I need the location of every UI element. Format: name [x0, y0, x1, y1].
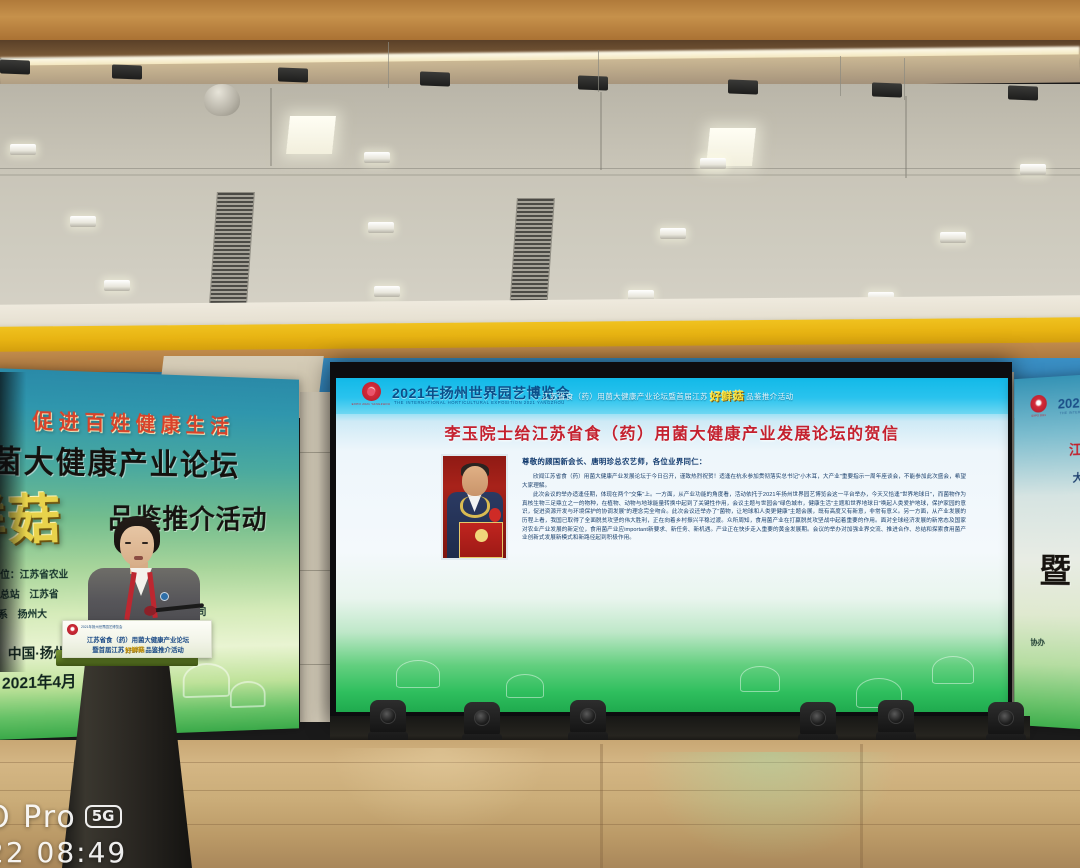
- slide-body-text: 尊敬的顾国新会长、唐明珍总农艺师，各位业界同仁： 欣闻江苏省食（药）用菌大健康产…: [522, 456, 966, 544]
- slide-header-brand: 好鲜菇: [710, 387, 745, 404]
- ceiling-panel-seam: [905, 96, 907, 178]
- slide-header-right-after: 品鉴推介活动: [746, 392, 793, 401]
- banner-right-year: 2021: [1058, 394, 1080, 411]
- mushroom-graphic: [506, 674, 544, 698]
- banner-right-big-char: 暨: [1039, 544, 1070, 592]
- podium-sign-brand: 好鲜菇: [125, 645, 145, 655]
- podium-sign-top-line: 2021年扬州世界园艺博览会: [81, 624, 122, 629]
- banner-left-slogan: 展 促进百姓健康生活: [0, 403, 290, 442]
- ceiling-hanging-wire: [388, 42, 389, 88]
- podium-sign-line-2-after: 品鉴推介活动: [145, 647, 183, 654]
- ceiling-downlight: [70, 216, 96, 227]
- floor-plank-seam: [600, 744, 603, 868]
- slide-header-right-text: 江苏省食（药）用菌大健康产业论坛暨首届江苏好鲜菇品鉴推介活动: [542, 389, 794, 405]
- speaker-box-icon: [112, 64, 142, 79]
- speaker-box-icon: [728, 79, 758, 94]
- banner-right-red-line: 江: [1069, 440, 1080, 460]
- ceiling-downlight: [368, 222, 394, 233]
- watermark-model-text: O Pro: [0, 800, 77, 835]
- speaker-box-icon: [278, 67, 308, 82]
- podium-sign-line-2-before: 暨首届江苏: [92, 647, 124, 654]
- ceiling-downlight: [374, 286, 400, 297]
- ceiling-downlight: [10, 144, 36, 155]
- ceiling-downlight: [940, 232, 966, 243]
- conference-hall-photo: 展 促进百姓健康生活 用菌大健康产业论坛 鲜菇 品鉴推介活动 办单位：江苏省农业…: [0, 0, 1080, 868]
- podium-sign: 2021年扬州世界园艺博览会 江苏省食（药）用菌大健康产业论坛 暨首届江苏好鲜菇…: [62, 620, 212, 658]
- expo-logo-icon: EXPO 2021: [1029, 394, 1049, 418]
- slide-header-bar: EXPO 2021 YANGZHOU 2021年扬州世界园艺博览会 THE IN…: [336, 378, 1008, 414]
- ceiling-panel-seam: [0, 174, 1080, 176]
- ceiling-downlight: [660, 228, 686, 239]
- ceiling-panel-light: [286, 116, 336, 154]
- lapel-pin: [160, 592, 169, 601]
- slide-paragraph: 此次会议的举办适逢佳期，体现在两个"交集"上。一方面，从产业功能的角度看，活动依…: [522, 491, 966, 543]
- speaker-box-icon: [578, 75, 608, 90]
- ceiling-panel-seam: [270, 88, 272, 166]
- expo-logo-icon: [67, 624, 78, 635]
- mushroom-graphic: [740, 666, 780, 692]
- camera-watermark-timestamp: 22 08:49: [0, 836, 127, 868]
- slide-header-right-before: 江苏省食（药）用菌大健康产业论坛暨首届江苏: [542, 392, 708, 401]
- expo-logo-sub: EXPO 2021: [1031, 413, 1045, 418]
- slide-salutation: 尊敬的顾国新会长、唐明珍总农艺师，各位业界同仁：: [522, 456, 966, 467]
- expo-logo-icon: EXPO 2021 YANGZHOU: [358, 382, 384, 410]
- ceiling-panel-seam: [0, 168, 1080, 169]
- event-banner-right: EXPO 2021 2021 THE INTERNATIONAL HORTICU…: [1014, 372, 1080, 732]
- mushroom-graphic: [183, 662, 230, 698]
- slide-paragraph: 欣闻江苏省食（药）用菌大健康产业发展论坛于今日召开，谨致热烈祝贺！适逢在杭永参加…: [522, 473, 966, 490]
- watermark-5g-badge: 5G: [85, 805, 122, 828]
- dome-camera-icon: [204, 84, 240, 116]
- slide-title: 李玉院士给江苏省食（药）用菌大健康产业发展论坛的贺信: [336, 420, 1008, 444]
- ceiling-hanging-wire: [840, 56, 841, 96]
- slide-portrait-photo: [441, 454, 508, 560]
- mushroom-graphic: [230, 680, 266, 708]
- ceiling-downlight: [1020, 164, 1046, 175]
- expo-logo-sub: EXPO 2021 YANGZHOU: [352, 402, 391, 406]
- ceiling-downlight: [104, 280, 130, 291]
- slide-header-title-en: THE INTERNATIONAL HORTICULTURAL EXPOSITI…: [394, 400, 565, 405]
- led-screen-display[interactable]: EXPO 2021 YANGZHOU 2021年扬州世界园艺博览会 THE IN…: [336, 378, 1008, 712]
- ceiling-panel-seam: [600, 92, 602, 170]
- speaker-box-icon: [420, 71, 450, 86]
- floor-light-reflection: [330, 748, 550, 838]
- banner-right-org: 协办: [1030, 637, 1045, 648]
- camera-watermark-model: O Pro5G: [0, 800, 122, 835]
- ceiling-hanging-wire: [598, 50, 599, 92]
- podium-sign-line-2: 暨首届江苏好鲜菇品鉴推介活动: [63, 645, 212, 654]
- ceiling-downlight: [364, 152, 390, 163]
- ceiling-hanging-wire: [904, 58, 905, 100]
- mushroom-graphic: [396, 660, 440, 688]
- mushroom-graphic: [932, 656, 974, 684]
- banner-right-sub-line: 大: [1073, 469, 1080, 485]
- ceiling-downlight: [700, 158, 726, 169]
- podium-sign-line-1: 江苏省食（药）用菌大健康产业论坛: [63, 635, 212, 644]
- ceiling-wood-trim: [0, 0, 1080, 42]
- floor-light-reflection: [640, 752, 900, 862]
- speaker-box-icon: [872, 82, 902, 97]
- speaker-box-icon: [1008, 85, 1038, 100]
- room-left-shadow: [0, 372, 26, 672]
- speaker-box-icon: [0, 59, 30, 74]
